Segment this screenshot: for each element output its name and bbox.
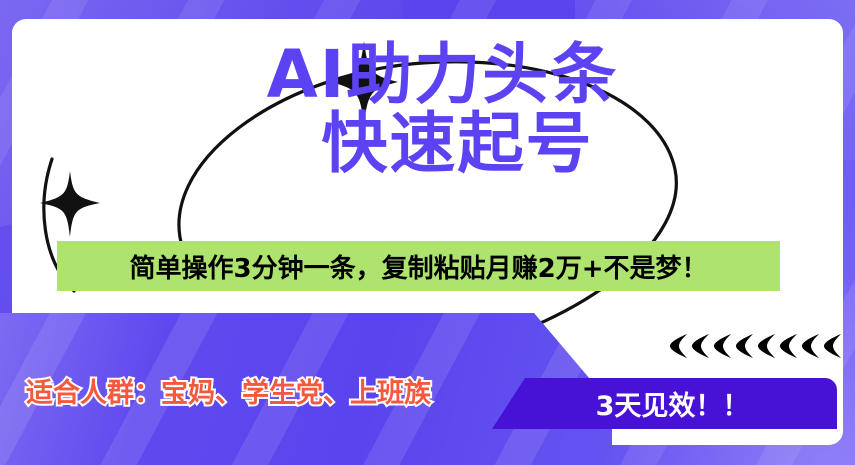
chevron-left-icon xyxy=(690,333,712,359)
headline: AI助力头条 快速起号 xyxy=(12,43,843,176)
headline-line-1: AI助力头条 xyxy=(12,43,843,106)
poster-root: AI助力头条 快速起号 简单操作3分钟一条，复制粘贴月赚2万+不是梦！ 适合人群… xyxy=(0,0,855,465)
audience-banner-text: 适合人群：宝妈、学生党、上班族 xyxy=(26,371,506,410)
chevron-left-icon xyxy=(778,333,800,359)
chevron-left-icon xyxy=(668,333,690,359)
chevron-left-icon xyxy=(756,333,778,359)
highlight-strip-text: 简单操作3分钟一条，复制粘贴月赚2万+不是梦！ xyxy=(57,241,780,291)
chevron-left-icon xyxy=(734,333,756,359)
sparkle-icon xyxy=(40,171,100,237)
chevron-left-icon xyxy=(800,333,822,359)
result-box-text: 3天见效！！ xyxy=(492,378,837,429)
chevron-left-icon xyxy=(822,333,844,359)
sparkle-icon xyxy=(330,41,398,125)
chevron-left-icon xyxy=(712,333,734,359)
chevron-row xyxy=(668,333,844,359)
headline-line-2: 快速起号 xyxy=(12,112,843,175)
